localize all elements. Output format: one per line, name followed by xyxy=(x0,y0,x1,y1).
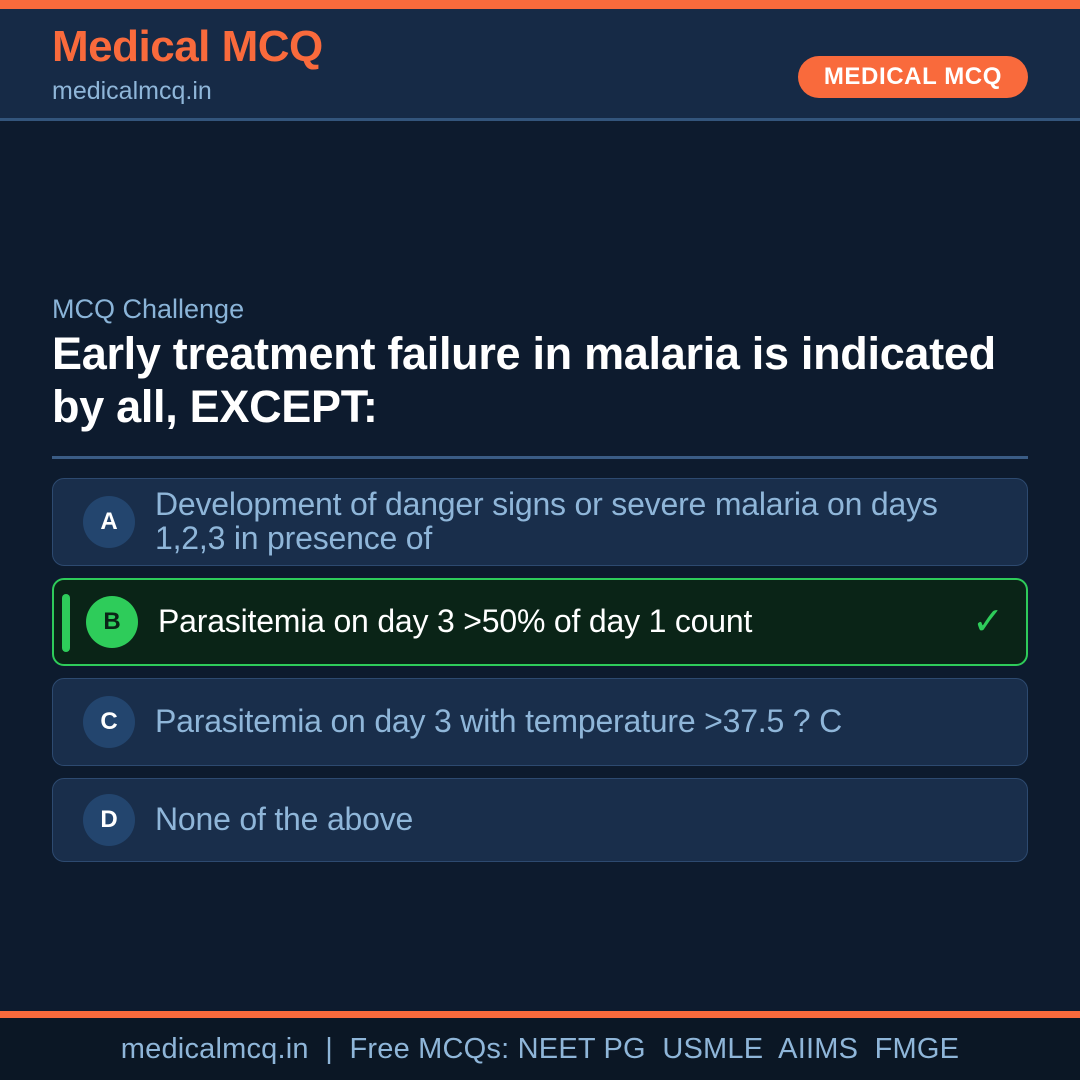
footer-accent-bar xyxy=(0,1011,1080,1018)
option-a-text: Development of danger signs or severe ma… xyxy=(155,488,991,556)
check-icon: ✓ xyxy=(972,603,1004,641)
page-footer: medicalmcq.in | Free MCQs: NEET PG USMLE… xyxy=(0,1018,1080,1080)
brand-subtitle: medicalmcq.in xyxy=(52,78,212,106)
footer-text: medicalmcq.in | Free MCQs: NEET PG USMLE… xyxy=(121,1033,959,1066)
option-d-letter-badge: D xyxy=(83,794,135,846)
option-a[interactable]: A Development of danger signs or severe … xyxy=(52,478,1028,566)
question-eyebrow: MCQ Challenge xyxy=(52,294,244,325)
option-c[interactable]: C Parasitemia on day 3 with temperature … xyxy=(52,678,1028,766)
option-c-text: Parasitemia on day 3 with temperature >3… xyxy=(155,705,991,739)
top-accent-bar xyxy=(0,0,1080,9)
page-header: Medical MCQ medicalmcq.in MEDICAL MCQ xyxy=(0,9,1080,120)
options-list: A Development of danger signs or severe … xyxy=(52,478,1028,874)
header-divider xyxy=(0,118,1080,121)
brand-badge: MEDICAL MCQ xyxy=(798,56,1028,98)
option-b[interactable]: B Parasitemia on day 3 >50% of day 1 cou… xyxy=(52,578,1028,666)
option-a-letter-badge: A xyxy=(83,496,135,548)
option-d[interactable]: D None of the above xyxy=(52,778,1028,862)
correct-accent-bar xyxy=(62,594,70,652)
option-b-text: Parasitemia on day 3 >50% of day 1 count xyxy=(158,605,958,639)
option-d-text: None of the above xyxy=(155,803,991,837)
question-divider xyxy=(52,456,1028,459)
question-text: Early treatment failure in malaria is in… xyxy=(52,328,1037,433)
option-b-letter-badge: B xyxy=(86,596,138,648)
option-c-letter-badge: C xyxy=(83,696,135,748)
brand-title: Medical MCQ xyxy=(52,24,323,70)
